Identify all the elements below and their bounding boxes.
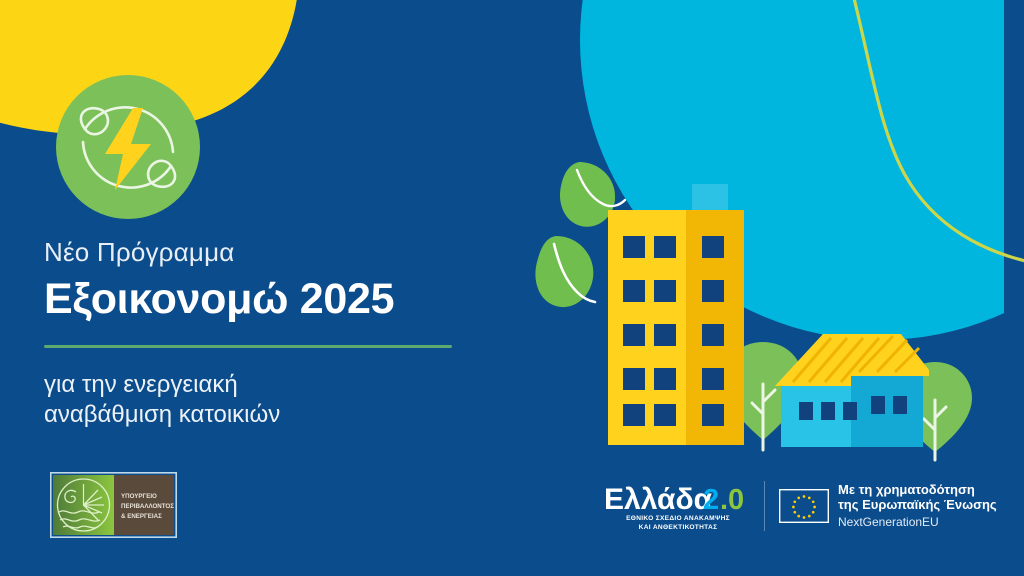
house-front-windows [799,402,857,420]
greece-logo-subtitle-1: ΕΘΝΙΚΟ ΣΧΕΔΙΟ ΑΝΑΚΑΜΨΗΣ [626,515,730,522]
subtitle-line-2: αναβάθμιση κατοικιών [44,400,474,431]
apartment-building [608,210,744,445]
promotional-banner: Νέο Πρόγραμμα Εξοικονομώ 2025 για την εν… [0,0,1024,576]
eu-funding-line-2: της Ευρωπαϊκής Ένωσης [838,497,997,512]
eu-funding-text: Με τη χρηματοδότηση της Ευρωπαϊκής Ένωση… [838,482,997,530]
ministry-text-line-2: ΠΕΡΙΒΑΛΛΟΝΤΟΣ [121,503,174,510]
cyan-circle-right-mask [1004,0,1024,340]
copy-block: Νέο Πρόγραμμα Εξοικονομώ 2025 για την εν… [44,238,474,431]
page-title: Εξοικονομώ 2025 [44,277,474,322]
greece-2-0-logo: Ελλάδα 2 .0 ΕΘΝΙΚΟ ΣΧΕΔΙΟ ΑΝΑΚΑΜΨΗΣ ΚΑΙ … [604,478,752,534]
leaf-lower [535,236,595,307]
greece-logo-number: 2 [703,484,719,516]
subtitle-line-1: για την ενεργειακή [44,370,474,401]
buildings-illustration [525,140,985,470]
ministry-of-environment-and-energy-logo: ΥΠΟΥΡΓΕΙΟ ΠΕΡΙΒΑΛΛΟΝΤΟΣ & ΕΝΕΡΓΕΙΑΣ [50,472,177,538]
eu-funding-line-3: NextGenerationEU [838,515,997,531]
eu-flag-icon [779,489,829,523]
eyebrow-text: Νέο Πρόγραμμα [44,238,474,267]
greece-logo-decimal: .0 [720,484,744,516]
house-with-solar-roof [775,334,929,447]
house-side-wall [851,368,923,447]
divider-line [44,345,452,348]
greece-logo-subtitle-2: ΚΑΙ ΑΝΘΕΚΤΙΚΟΤΗΤΑΣ [639,524,718,531]
leaf-upper-blade [560,162,615,227]
greece-logo-word: Ελλάδα [604,483,713,516]
ministry-text-line-3: & ΕΝΕΡΓΕΙΑΣ [121,513,162,520]
energy-efficiency-badge [55,74,201,220]
eu-funding-line-1: Με τη χρηματοδότηση [838,482,997,497]
eu-funding-logo: Με τη χρηματοδότηση της Ευρωπαϊκής Ένωση… [764,481,997,531]
ministry-text-line-1: ΥΠΟΥΡΓΕΙΟ [121,493,157,500]
footer-logo-group: Ελλάδα 2 .0 ΕΘΝΙΚΟ ΣΧΕΔΙΟ ΑΝΑΚΑΜΨΗΣ ΚΑΙ … [604,478,997,534]
